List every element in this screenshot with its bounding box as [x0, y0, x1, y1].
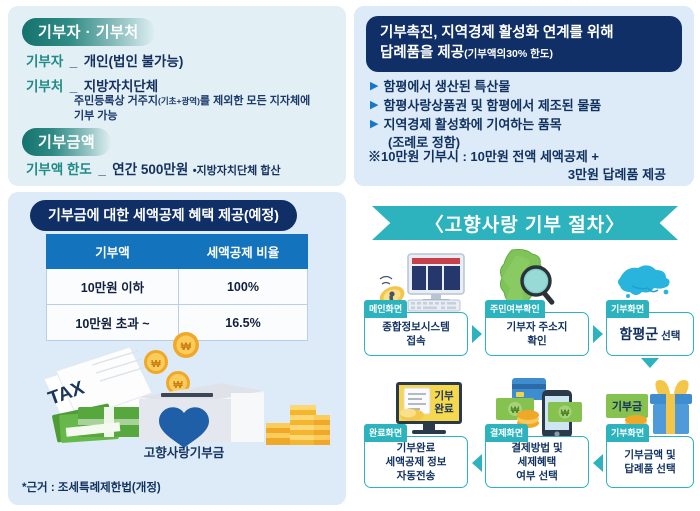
donation-illustration: TAX ₩ ₩ ₩ [26, 327, 331, 462]
svg-text:완료: 완료 [434, 402, 454, 415]
gift-policy-header: 기부촉진, 지역경제 활성화 연계를 위해 답례품을 제공(기부액의30% 한도… [366, 16, 682, 72]
triangle-icon: ▶ [370, 116, 378, 133]
cell-rate-1: 100% [178, 269, 307, 305]
donation-limit-value: 연간 500만원 [112, 162, 188, 177]
gift-policy-bullets: ▶ 함평에서 생산된 특산물 ▶ 함평사랑상품권 및 함평에서 제조된 물품 ▶… [370, 78, 690, 151]
procedure-ribbon: 〈고향사랑 기부 절차〉 [372, 206, 678, 240]
donor-recipient-panel: 기부자 · 기부처 기부자 _ 개인(법인 불가능) 기부처 _ 지방자치단체 … [8, 6, 346, 186]
gift-policy-note-line2: 3만원 답례품 제공 [368, 166, 690, 184]
flow-box-donation-screen-2[interactable]: 기부화면 기부금액 및 답례품 선택 [606, 436, 694, 488]
arrow-right-icon-2 [593, 325, 603, 343]
flow-box-donation-screen-1[interactable]: 기부화면 함평군 선택 [606, 312, 694, 356]
flow-box-complete-screen[interactable]: 완료화면 기부완료 세액공제 정보 자동전송 [364, 436, 468, 488]
gift-policy-note: ※10만원 기부시 : 10만원 전액 세액공제 + 3만원 답례품 제공 [368, 148, 690, 183]
svg-text:기부금: 기부금 [612, 399, 642, 413]
tax-credit-header: 기부금에 대한 세액공제 혜택 제공(예정) [30, 200, 297, 231]
svg-text:₩: ₩ [561, 408, 570, 418]
flow-box-payment-screen[interactable]: 결제화면 결제방법 및 세제혜택 여부 선택 [485, 436, 589, 488]
donor-separator: _ [68, 54, 80, 69]
donation-illustration-svg: TAX ₩ ₩ ₩ [26, 327, 331, 462]
gift-policy-limit: (기부액의30% 한도) [464, 48, 553, 60]
donation-amount-header: 기부금액 [22, 128, 111, 156]
recipient-detail: 주민등록상 거주지(기초+광역)를 제외한 모든 지자체에 기부 가능 [74, 94, 340, 124]
gift-box [650, 380, 692, 434]
flow-text-region-action: 선택 [658, 330, 680, 342]
list-item: ▶ 함평사랑상품권 및 함평에서 제조된 물품 [370, 97, 690, 114]
donation-limit-label: 기부액 한도 [26, 162, 92, 177]
triangle-icon: ▶ [370, 97, 378, 114]
flow-text-donation-screen-1: 함평군 선택 [607, 313, 693, 355]
arrow-left-icon-1 [472, 454, 482, 472]
flow-text-donation-screen-2: 기부금액 및 답례품 선택 [607, 437, 693, 487]
flow-text-complete-screen: 기부완료 세액공제 정보 자동전송 [365, 437, 467, 487]
recipient-detail-scope: (기초+광역) [158, 96, 200, 106]
gift-policy-panel: 기부촉진, 지역경제 활성화 연계를 위해 답례품을 제공(기부액의30% 한도… [354, 6, 694, 186]
list-item: ▶ 함평에서 생산된 특산물 [370, 78, 690, 95]
donation-procedure-flowchart: 메인화면 종합정보시스템 접속 주민여부확인 기부자 주소지 확인 기부화면 함… [354, 246, 700, 508]
falling-coins-icon: ₩ ₩ ₩ [144, 332, 199, 395]
table-header-row: 기부액 세액공제 비율 [47, 235, 308, 269]
coin-stack-icon [266, 405, 330, 445]
donor-value: 개인(법인 불가능) [84, 54, 184, 69]
column-header-rate: 세액공제 비율 [178, 235, 307, 269]
svg-text:₩: ₩ [181, 341, 192, 353]
source-note: *근거 : 조세특례제한법(개정) [22, 479, 161, 495]
flow-text-region-name: 함평군 [620, 326, 659, 342]
svg-text:기부: 기부 [434, 389, 454, 402]
svg-text:₩: ₩ [173, 380, 183, 391]
bullet-text-2: 함평사랑상품권 및 함평에서 제조된 물품 [383, 97, 601, 114]
recipient-detail-line2: 기부 가능 [74, 110, 118, 122]
donation-limit-note: •지방자치단체 합산 [193, 165, 281, 177]
recipient-label: 기부처 [26, 79, 63, 94]
donation-limit-separator: _ [96, 162, 108, 177]
flow-text-residency-check: 기부자 주소지 확인 [486, 313, 588, 355]
donation-box-label: 고향사랑기부금 [144, 445, 225, 460]
infographic-page: 기부자 · 기부처 기부자 _ 개인(법인 불가능) 기부처 _ 지방자치단체 … [0, 0, 700, 511]
donor-row: 기부자 _ 개인(법인 불가능) [26, 50, 183, 71]
ribbon-title: 〈고향사랑 기부 절차〉 [372, 206, 678, 240]
flow-text-main-screen: 종합정보시스템 접속 [365, 313, 467, 355]
tax-credit-panel: 기부금에 대한 세액공제 혜택 제공(예정) 기부액 세액공제 비율 10만원 … [8, 192, 346, 505]
arrow-left-icon-2 [593, 454, 603, 472]
bullet-text-3: 지역경제 활성화에 기여하는 품목 [383, 116, 561, 133]
table-row: 10만원 이하 100% [47, 269, 308, 305]
tax-credit-table: 기부액 세액공제 비율 10만원 이하 100% 10만원 초과 ~ 16.5% [46, 234, 308, 341]
donation-limit-row: 기부액 한도 _ 연간 500만원 •지방자치단체 합산 [26, 158, 281, 179]
recipient-detail-line1b: 를 제외한 모든 지자체에 [200, 95, 310, 107]
cell-amount-1: 10만원 이하 [47, 269, 179, 305]
gift-policy-header-line1: 기부촉진, 지역경제 활성화 연계를 위해 [380, 25, 614, 41]
column-header-amount: 기부액 [47, 235, 179, 269]
svg-text:₩: ₩ [151, 359, 161, 370]
gift-policy-note-line1: ※10만원 기부시 : 10만원 전액 세액공제 + [368, 149, 599, 164]
arrow-right-icon-1 [472, 325, 482, 343]
flow-text-payment-screen: 결제방법 및 세제혜택 여부 선택 [486, 437, 588, 487]
flow-box-main-screen[interactable]: 메인화면 종합정보시스템 접속 [364, 312, 468, 356]
arrow-down-icon [641, 358, 659, 368]
recipient-detail-line1a: 주민등록상 거주지 [74, 95, 158, 107]
donor-recipient-header: 기부자 · 기부처 [22, 18, 155, 46]
triangle-icon: ▶ [370, 78, 378, 95]
gift-policy-header-line2: 답례품을 제공 [380, 45, 464, 61]
recipient-value: 지방자치단체 [84, 79, 159, 94]
flow-box-residency-check[interactable]: 주민여부확인 기부자 주소지 확인 [485, 312, 589, 356]
recipient-separator: _ [68, 79, 80, 94]
recipient-row: 기부처 _ 지방자치단체 [26, 75, 158, 96]
donor-label: 기부자 [26, 54, 63, 69]
bullet-text-1: 함평에서 생산된 특산물 [383, 78, 510, 95]
list-item: ▶ 지역경제 활성화에 기여하는 품목 [370, 116, 690, 133]
